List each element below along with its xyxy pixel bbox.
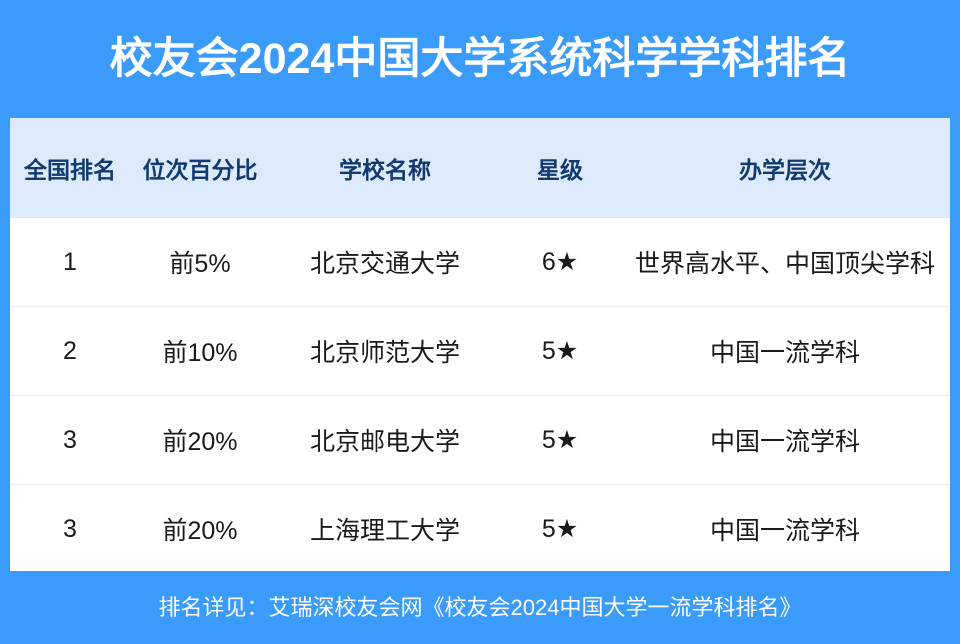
column-header-rank: 全国排名 bbox=[10, 118, 130, 218]
ranking-table: 全国排名 位次百分比 学校名称 星级 办学层次 1 前5% 北京交通大学 6★ … bbox=[10, 118, 950, 571]
source-note: 排名详见：艾瑞深校友会网《校友会2024中国大学一流学科排名》 bbox=[159, 597, 802, 619]
cell-rank: 2 bbox=[10, 307, 130, 396]
cell-school: 北京邮电大学 bbox=[270, 396, 500, 485]
column-header-percentile: 位次百分比 bbox=[130, 118, 270, 218]
cell-star: 5★ bbox=[500, 396, 620, 485]
cell-rank: 3 bbox=[10, 396, 130, 485]
table-header-row: 全国排名 位次百分比 学校名称 星级 办学层次 bbox=[10, 118, 950, 218]
table-header: 全国排名 位次百分比 学校名称 星级 办学层次 bbox=[10, 118, 950, 218]
page-title: 校友会2024中国大学系统科学学科排名 bbox=[110, 38, 851, 81]
title-band: 校友会2024中国大学系统科学学科排名 bbox=[0, 0, 960, 118]
cell-star: 6★ bbox=[500, 218, 620, 307]
column-header-level: 办学层次 bbox=[620, 118, 950, 218]
cell-level: 中国一流学科 bbox=[620, 396, 950, 485]
cell-school: 北京交通大学 bbox=[270, 218, 500, 307]
cell-level: 世界高水平、中国顶尖学科 bbox=[620, 218, 950, 307]
column-header-star: 星级 bbox=[500, 118, 620, 218]
cell-percentile: 前20% bbox=[130, 485, 270, 572]
table-row: 3 前20% 北京邮电大学 5★ 中国一流学科 bbox=[10, 396, 950, 485]
ranking-table-card: 全国排名 位次百分比 学校名称 星级 办学层次 1 前5% 北京交通大学 6★ … bbox=[10, 118, 950, 571]
cell-school: 上海理工大学 bbox=[270, 485, 500, 572]
table-row: 1 前5% 北京交通大学 6★ 世界高水平、中国顶尖学科 bbox=[10, 218, 950, 307]
cell-rank: 3 bbox=[10, 485, 130, 572]
cell-percentile: 前10% bbox=[130, 307, 270, 396]
cell-school: 北京师范大学 bbox=[270, 307, 500, 396]
cell-percentile: 前5% bbox=[130, 218, 270, 307]
table-body: 1 前5% 北京交通大学 6★ 世界高水平、中国顶尖学科 2 前10% 北京师范… bbox=[10, 218, 950, 571]
footer-band: 排名详见：艾瑞深校友会网《校友会2024中国大学一流学科排名》 bbox=[0, 571, 960, 644]
table-row: 2 前10% 北京师范大学 5★ 中国一流学科 bbox=[10, 307, 950, 396]
cell-rank: 1 bbox=[10, 218, 130, 307]
column-header-school: 学校名称 bbox=[270, 118, 500, 218]
cell-level: 中国一流学科 bbox=[620, 307, 950, 396]
ranking-poster: 校友会2024中国大学系统科学学科排名 全国排名 位次百分比 学校名称 星级 办… bbox=[0, 0, 960, 644]
table-row: 3 前20% 上海理工大学 5★ 中国一流学科 bbox=[10, 485, 950, 572]
cell-star: 5★ bbox=[500, 307, 620, 396]
cell-percentile: 前20% bbox=[130, 396, 270, 485]
cell-level: 中国一流学科 bbox=[620, 485, 950, 572]
cell-star: 5★ bbox=[500, 485, 620, 572]
